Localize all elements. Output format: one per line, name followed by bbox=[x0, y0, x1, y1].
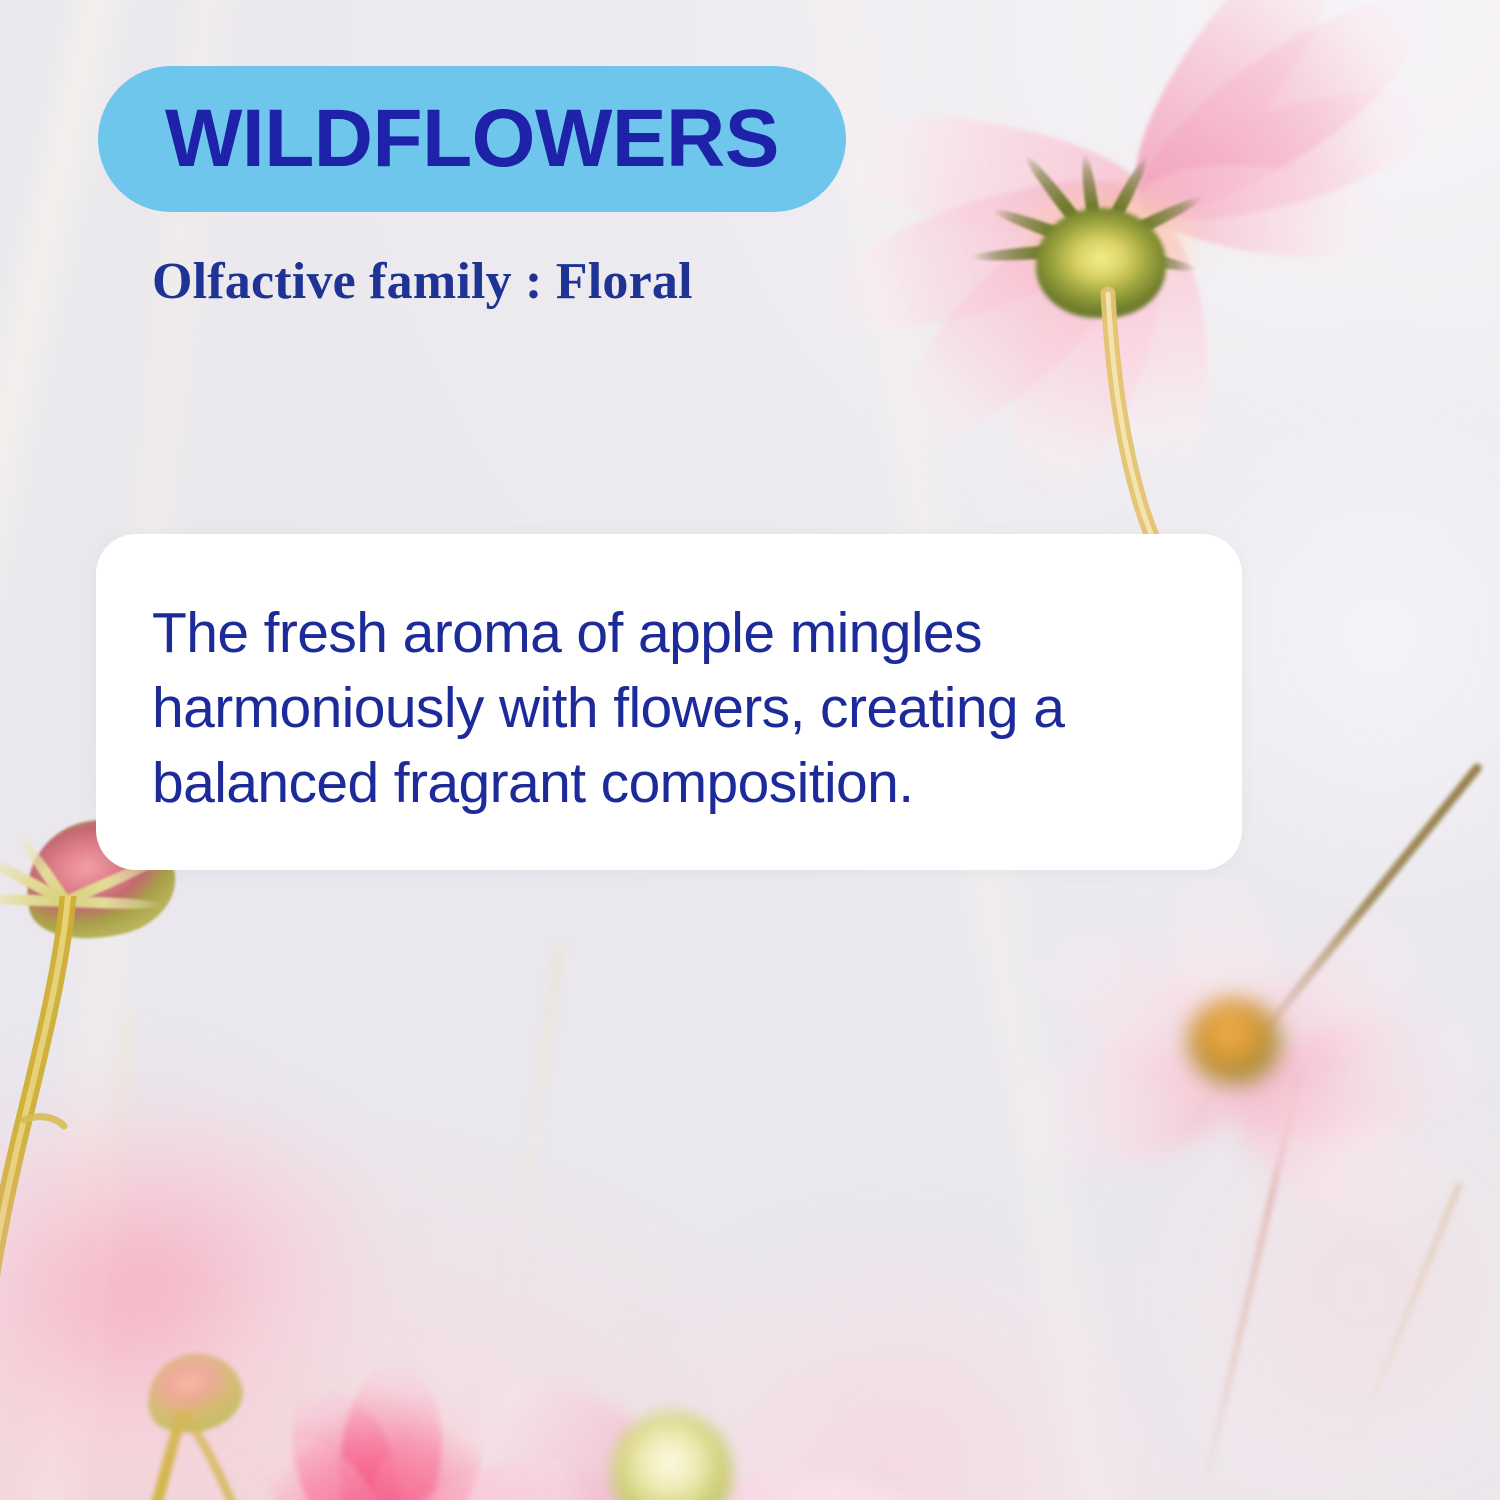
title-badge: WILDFLOWERS bbox=[98, 66, 846, 212]
description-text: The fresh aroma of apple mingles harmoni… bbox=[152, 596, 1212, 822]
poster-canvas: WILDFLOWERS Olfactive family : Floral Th… bbox=[0, 0, 1500, 1500]
description-card: The fresh aroma of apple mingles harmoni… bbox=[96, 534, 1242, 870]
page-title: WILDFLOWERS bbox=[165, 98, 779, 180]
content-overlay: WILDFLOWERS Olfactive family : Floral Th… bbox=[0, 0, 1500, 1500]
olfactive-family-label: Olfactive family : Floral bbox=[152, 252, 693, 311]
